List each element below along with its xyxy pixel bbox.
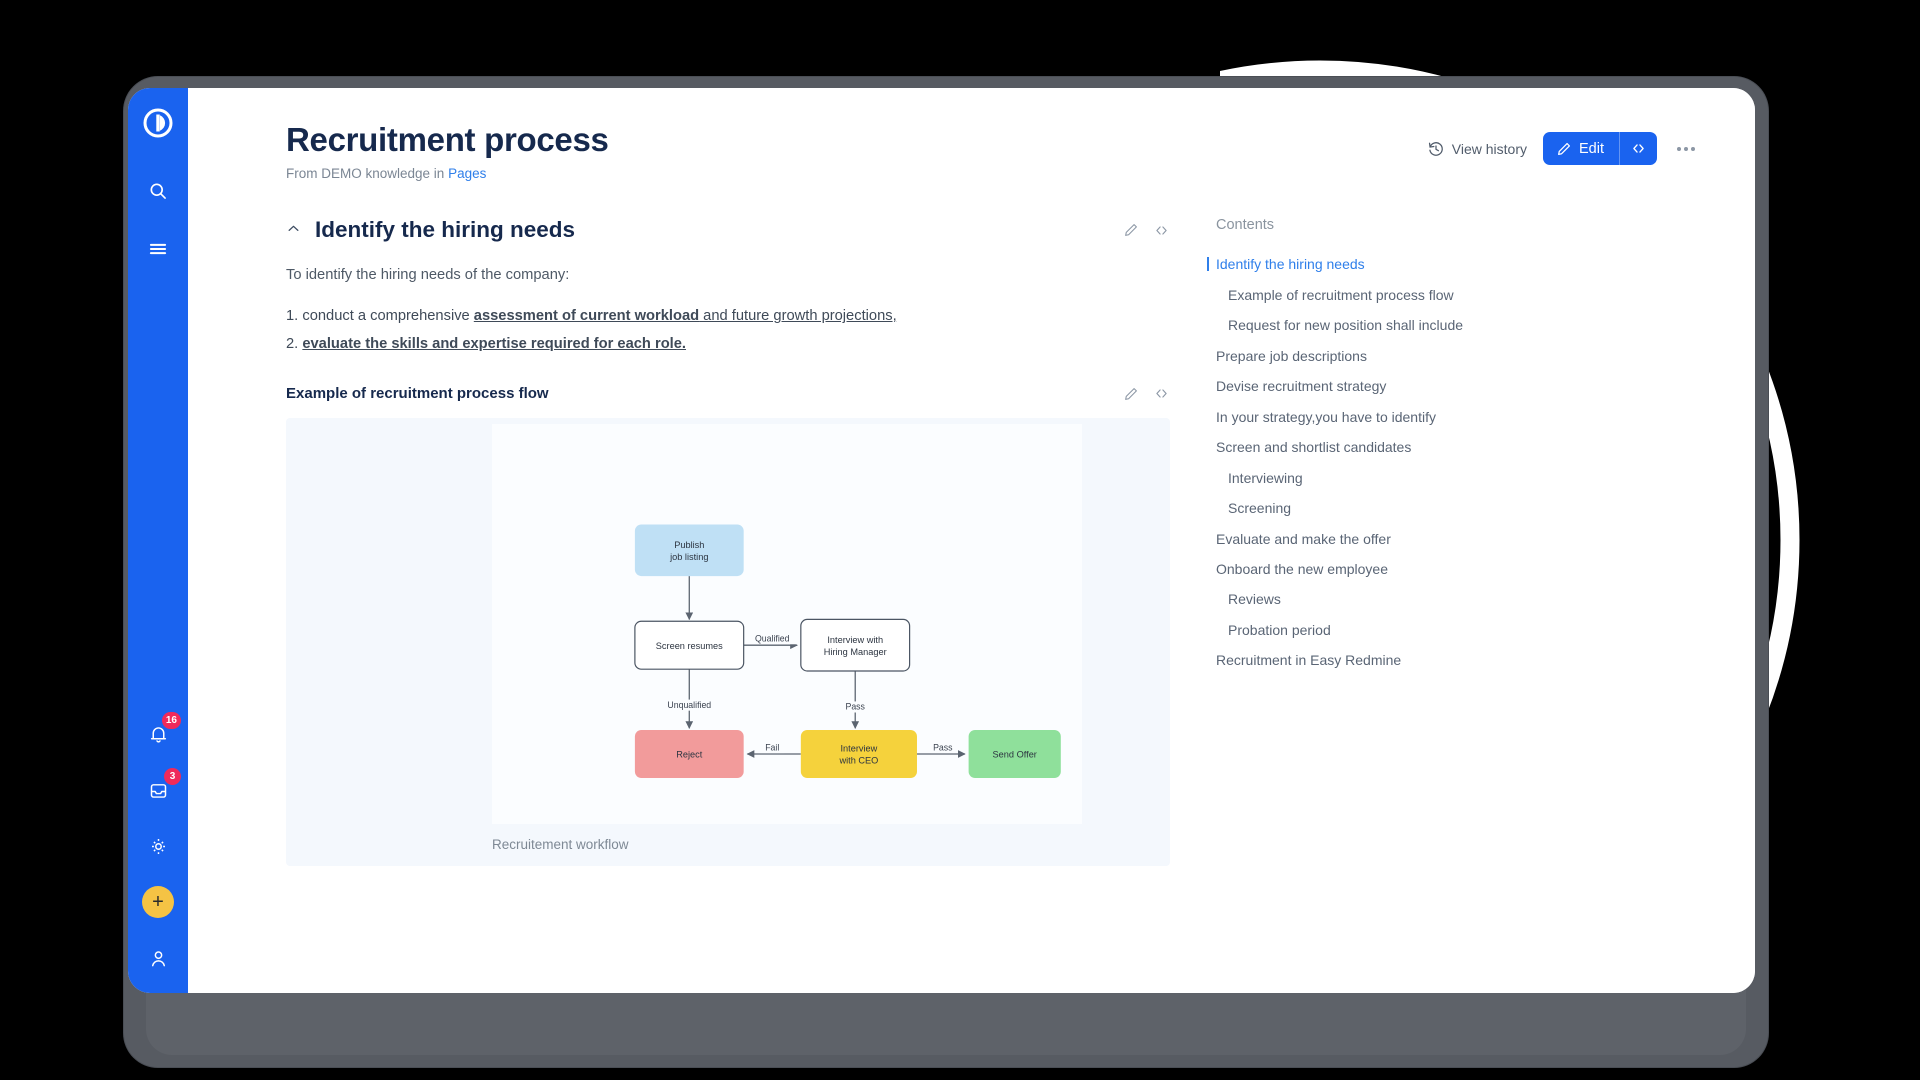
flow-node-label: Reject — [676, 750, 703, 760]
toc-item-3[interactable]: Prepare job descriptions — [1216, 341, 1725, 371]
breadcrumb-link-pages[interactable]: Pages — [448, 166, 486, 181]
flow-node-screen[interactable]: Screen resumes — [635, 622, 744, 670]
section-header-left: Identify the hiring needs — [286, 217, 575, 243]
code-brackets-icon[interactable] — [1153, 385, 1170, 402]
flow-node-label: Send Offer — [993, 750, 1037, 760]
inbox-icon[interactable]: 3 — [141, 773, 175, 807]
page-title: Recruitment process — [286, 122, 609, 158]
diagram-container: QualifiedUnqualifiedPassFailPass Publish… — [286, 418, 1170, 866]
step-2-emphasis: evaluate the skills and expertise requir… — [302, 336, 686, 352]
flow-node-label: Screen resumes — [656, 641, 723, 651]
dot — [1677, 147, 1681, 151]
toc-item-10[interactable]: Onboard the new employee — [1216, 554, 1725, 584]
subsection-header: Example of recruitment process flow — [286, 385, 1170, 402]
bell-icon[interactable]: 16 — [141, 717, 175, 751]
toc-item-13[interactable]: Recruitment in Easy Redmine — [1216, 645, 1725, 675]
user-icon[interactable] — [141, 941, 175, 975]
flow-node-label: Interview with — [827, 635, 883, 645]
list-item: conduct a comprehensive assessment of cu… — [286, 305, 1170, 327]
dot — [1691, 147, 1695, 151]
view-history-button[interactable]: View history — [1427, 140, 1527, 158]
code-view-button[interactable] — [1619, 132, 1657, 165]
hamburger-menu-icon[interactable] — [141, 232, 175, 266]
quick-add-button[interactable]: + — [141, 885, 175, 919]
page-title-block: Recruitment process From DEMO knowledge … — [286, 122, 609, 181]
pencil-icon[interactable] — [1123, 222, 1139, 238]
more-options-button[interactable] — [1673, 143, 1699, 155]
screenshot-stage: 16 3 + — [0, 0, 1920, 1080]
diagram-caption: Recruitement workflow — [492, 837, 629, 852]
subsection-row-icons — [1123, 385, 1170, 402]
header-actions: View history Edit — [1427, 122, 1699, 165]
toc-title: Contents — [1216, 217, 1725, 233]
toc-item-4[interactable]: Devise recruitment strategy — [1216, 371, 1725, 401]
flow-node-label: Hiring Manager — [824, 647, 887, 657]
code-brackets-icon — [1630, 140, 1647, 157]
edit-button-label: Edit — [1579, 141, 1604, 157]
flow-edge-label: Unqualified — [667, 700, 711, 710]
edit-button-group: Edit — [1543, 132, 1657, 165]
plus-icon[interactable]: + — [142, 886, 174, 918]
flow-node-label: with CEO — [838, 756, 878, 766]
gear-icon[interactable] — [141, 829, 175, 863]
toc-item-11[interactable]: Reviews — [1216, 584, 1725, 614]
flow-edge-label: Pass — [933, 743, 953, 753]
section-title: Identify the hiring needs — [315, 217, 575, 243]
list-item: evaluate the skills and expertise requir… — [286, 333, 1170, 355]
step-1-suffix: and future growth projections, — [699, 308, 897, 324]
toc-item-5[interactable]: In your strategy,you have to identify — [1216, 402, 1725, 432]
toc-item-6[interactable]: Screen and shortlist candidates — [1216, 432, 1725, 462]
flow-edge-label: Pass — [845, 702, 865, 712]
inbox-badge: 3 — [164, 768, 181, 785]
table-of-contents: Contents Identify the hiring needsExampl… — [1198, 217, 1755, 866]
flow-node-offer[interactable]: Send Offer — [969, 730, 1061, 778]
toc-item-2[interactable]: Request for new position shall include — [1216, 310, 1725, 340]
toc-item-12[interactable]: Probation period — [1216, 615, 1725, 645]
easy-redmine-logo-icon[interactable] — [141, 106, 175, 140]
flow-node-ceo[interactable]: Interviewwith CEO — [801, 730, 917, 778]
toc-item-0[interactable]: Identify the hiring needs — [1216, 249, 1725, 279]
breadcrumb: From DEMO knowledge in Pages — [286, 166, 609, 181]
chevron-up-icon[interactable] — [286, 221, 301, 240]
content-row: Identify the hiring needs — [188, 181, 1755, 866]
search-icon[interactable] — [141, 174, 175, 208]
section-header: Identify the hiring needs — [286, 217, 1170, 243]
bell-badge: 16 — [162, 712, 181, 729]
edit-button[interactable]: Edit — [1543, 132, 1619, 165]
flow-node-label: Publish — [674, 540, 704, 550]
pencil-icon[interactable] — [1123, 386, 1139, 402]
toc-item-8[interactable]: Screening — [1216, 493, 1725, 523]
steps-list: conduct a comprehensive assessment of cu… — [286, 305, 1170, 355]
article-column: Identify the hiring needs — [188, 217, 1198, 866]
left-nav-rail: 16 3 + — [128, 88, 188, 993]
history-clock-icon — [1427, 140, 1445, 158]
toc-item-1[interactable]: Example of recruitment process flow — [1216, 280, 1725, 310]
toc-item-9[interactable]: Evaluate and make the offer — [1216, 524, 1725, 554]
flow-node-publish[interactable]: Publishjob listing — [635, 525, 744, 577]
app-window: 16 3 + — [128, 88, 1755, 993]
flow-node-label: job listing — [669, 552, 708, 562]
step-1-prefix: conduct a comprehensive — [302, 308, 473, 324]
rail-bottom-group: 16 3 + — [128, 717, 188, 975]
diagram-canvas: QualifiedUnqualifiedPassFailPass Publish… — [492, 424, 1082, 824]
page-content: Recruitment process From DEMO knowledge … — [188, 88, 1755, 993]
flow-node-label: Interview — [840, 744, 877, 754]
section-row-icons — [1123, 222, 1170, 239]
toc-item-7[interactable]: Interviewing — [1216, 463, 1725, 493]
flow-node-hiring[interactable]: Interview withHiring Manager — [801, 620, 910, 672]
breadcrumb-prefix: From DEMO knowledge in — [286, 166, 448, 181]
step-1-emphasis: assessment of current workload — [474, 308, 699, 324]
flow-edge-label: Qualified — [755, 634, 790, 644]
subsection-title: Example of recruitment process flow — [286, 385, 549, 402]
view-history-label: View history — [1452, 141, 1527, 157]
toc-list: Identify the hiring needsExample of recr… — [1216, 249, 1725, 676]
recruitment-flowchart[interactable]: QualifiedUnqualifiedPassFailPass Publish… — [492, 424, 1082, 824]
dot — [1684, 147, 1688, 151]
flow-edge-label: Fail — [765, 743, 779, 753]
code-brackets-icon[interactable] — [1153, 222, 1170, 239]
page-header: Recruitment process From DEMO knowledge … — [188, 88, 1755, 181]
intro-paragraph: To identify the hiring needs of the comp… — [286, 267, 1170, 283]
pencil-icon — [1556, 141, 1572, 157]
flow-node-reject[interactable]: Reject — [635, 730, 744, 778]
